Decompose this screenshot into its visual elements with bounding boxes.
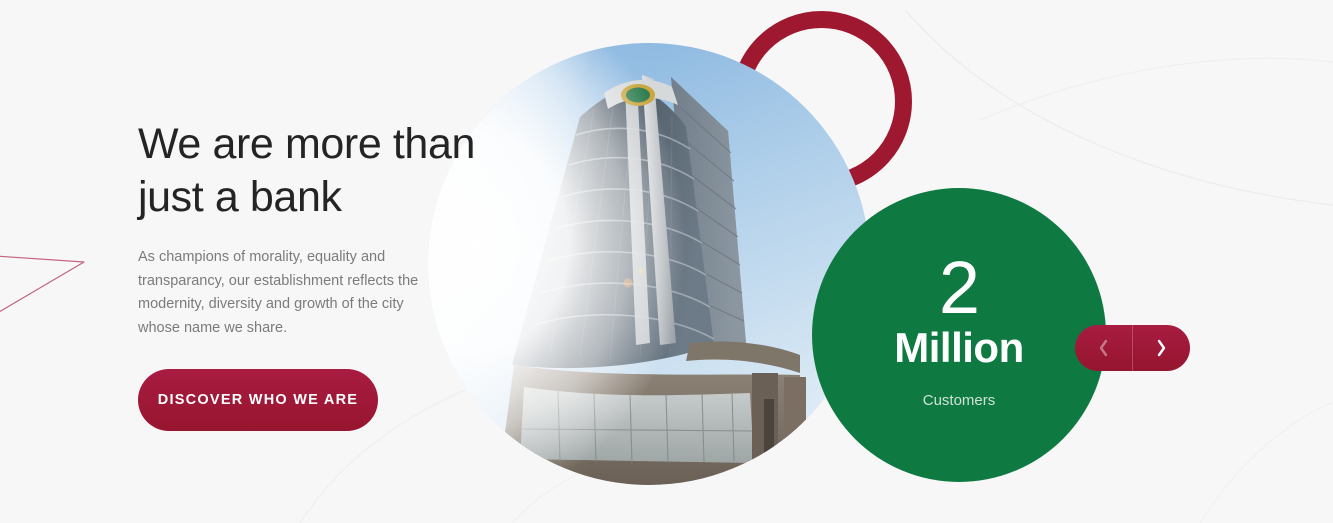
hero-banner: We are more than just a bank As champion… [0, 0, 1333, 523]
stat-number: 2 [939, 253, 979, 323]
headline-line-2: just a bank [138, 173, 342, 221]
slider-navigation[interactable] [1075, 325, 1190, 371]
stat-label: Customers [923, 391, 996, 411]
building-photo-circle [428, 43, 870, 485]
chevron-left-icon [1098, 339, 1109, 357]
stat-unit: Million [894, 325, 1023, 371]
arc-line-icon [0, 252, 92, 324]
headline-line-1: We are more than [138, 120, 475, 168]
hero-subcopy: As champions of morality, equality and t… [138, 246, 428, 340]
office-tower-image-icon [428, 43, 870, 485]
slider-next-button[interactable] [1133, 325, 1191, 371]
stat-circle-customers: 2 Million Customers [812, 188, 1106, 482]
building-photo [428, 43, 870, 485]
chevron-right-icon [1156, 339, 1167, 357]
page-title: We are more than just a bank [138, 118, 438, 224]
pink-arc-decoration [0, 252, 92, 324]
slider-prev-button[interactable] [1075, 325, 1133, 371]
discover-who-we-are-button[interactable]: DISCOVER WHO WE ARE [138, 369, 378, 431]
hero-text-column: We are more than just a bank As champion… [138, 118, 438, 431]
